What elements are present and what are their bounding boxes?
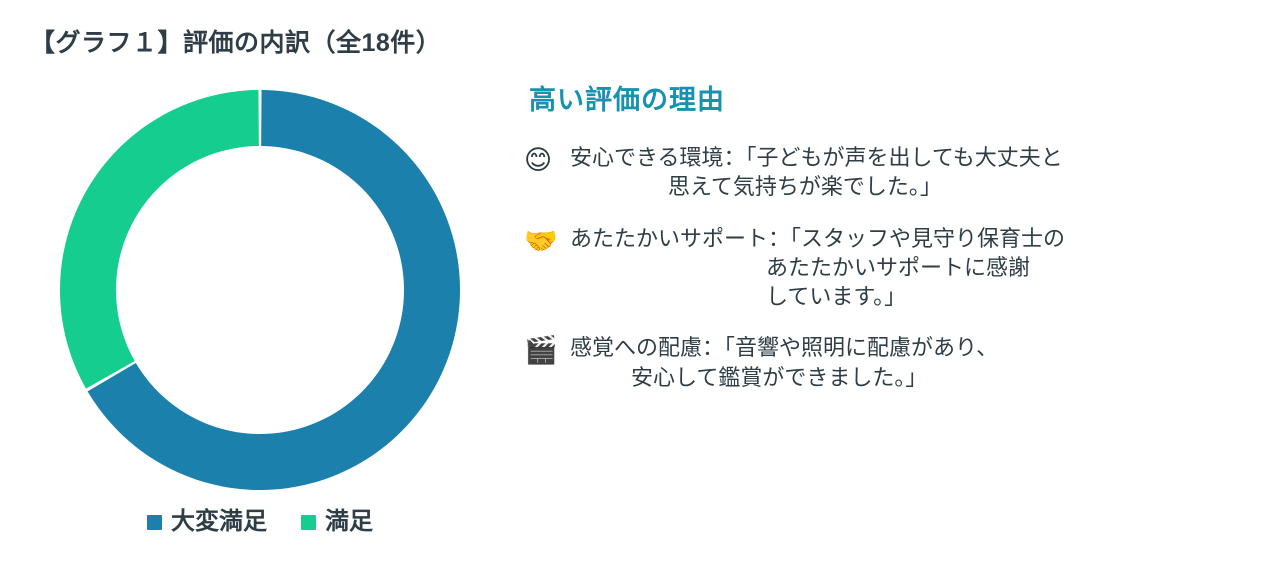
reason-item-environment: 😊 安心できる環境：「子どもが声を出しても大丈夫と 思えて気持ちが楽でした。」 [524,143,1264,202]
reason-line: しています。」 [570,282,1264,311]
donut-chart-panel: 大変満足 満足 [0,70,520,570]
page-title: 【グラフ１】評価の内訳（全18件） [30,23,441,59]
reasons-panel: 高い評価の理由 😊 安心できる環境：「子どもが声を出しても大丈夫と 思えて気持ち… [524,78,1264,414]
legend-swatch-satisfied [301,515,316,530]
donut-slice-満足[interactable] [60,90,259,389]
reason-line: あたたかいサポートに感謝 [570,253,1264,282]
legend-item-very-satisfied[interactable]: 大変満足 [147,510,267,534]
reason-text-support: あたたかいサポート：「スタッフや見守り保育士の あたたかいサポートに感謝 してい… [570,224,1264,312]
reason-line: 安心して鑑賞ができました。」 [570,363,1264,392]
reason-line: 感覚への配慮：「音響や照明に配慮があり、 [570,333,1264,362]
clapper-board-icon: 🎬 [524,333,570,369]
reason-item-sensory: 🎬 感覚への配慮：「音響や照明に配慮があり、 安心して鑑賞ができました。」 [524,333,1264,392]
reason-text-environment: 安心できる環境：「子どもが声を出しても大丈夫と 思えて気持ちが楽でした。」 [570,143,1264,202]
legend-swatch-very-satisfied [147,515,162,530]
reason-text-sensory: 感覚への配慮：「音響や照明に配慮があり、 安心して鑑賞ができました。」 [570,333,1264,392]
reason-line: 思えて気持ちが楽でした。」 [570,172,1264,201]
donut-slice-group [60,90,460,490]
smiling-face-icon: 😊 [524,143,570,179]
donut-chart [59,89,461,491]
chart-legend: 大変満足 満足 [0,510,520,534]
legend-item-satisfied[interactable]: 満足 [301,510,373,534]
legend-label-very-satisfied: 大変満足 [171,510,267,534]
donut-chart-svg [59,89,461,491]
reasons-heading: 高い評価の理由 [529,78,1264,117]
reason-line: あたたかいサポート：「スタッフや見守り保育士の [570,224,1264,253]
handshake-icon: 🤝 [524,224,570,260]
legend-label-satisfied: 満足 [325,510,373,534]
reason-line: 安心できる環境：「子どもが声を出しても大丈夫と [570,143,1264,172]
reason-item-support: 🤝 あたたかいサポート：「スタッフや見守り保育士の あたたかいサポートに感謝 し… [524,224,1264,312]
